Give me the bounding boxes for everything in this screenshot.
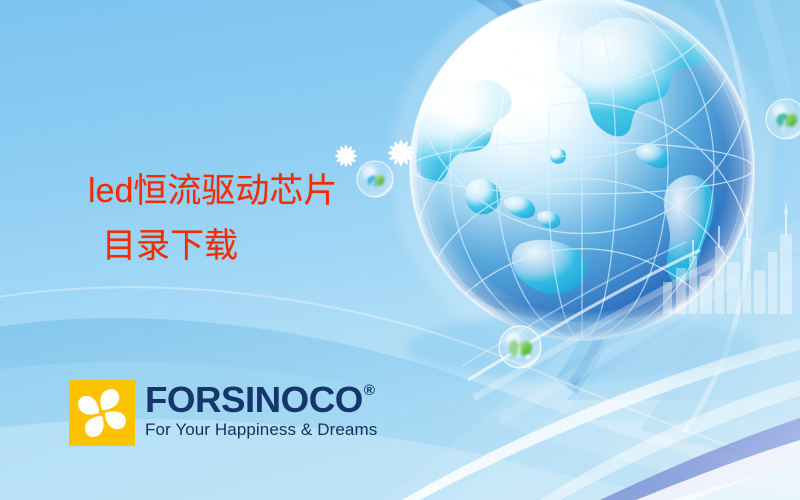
logo-tagline: For Your Happiness & Dreams (145, 420, 377, 440)
eco-bubble (499, 326, 541, 368)
headline-text: led恒流驱动芯片 目录下载 (88, 164, 518, 274)
headline-line-2: 目录下载 (102, 219, 518, 274)
eco-bubble (766, 99, 800, 139)
banner-canvas: led恒流驱动芯片 目录下载 FORSINOCO ® For Your Happ… (0, 0, 800, 500)
logo-wordmark: FORSINOCO ® (145, 382, 382, 418)
headline-line-1: led恒流驱动芯片 (88, 164, 518, 219)
forsinoco-logo[interactable]: FORSINOCO ® For Your Happiness & Dreams (69, 380, 377, 446)
logo-text-block: FORSINOCO ® For Your Happiness & Dreams (145, 380, 377, 440)
logo-wordmark-text: FORSINOCO (145, 382, 363, 418)
logo-mark-icon (69, 380, 135, 446)
registered-trademark-symbol: ® (364, 383, 375, 398)
